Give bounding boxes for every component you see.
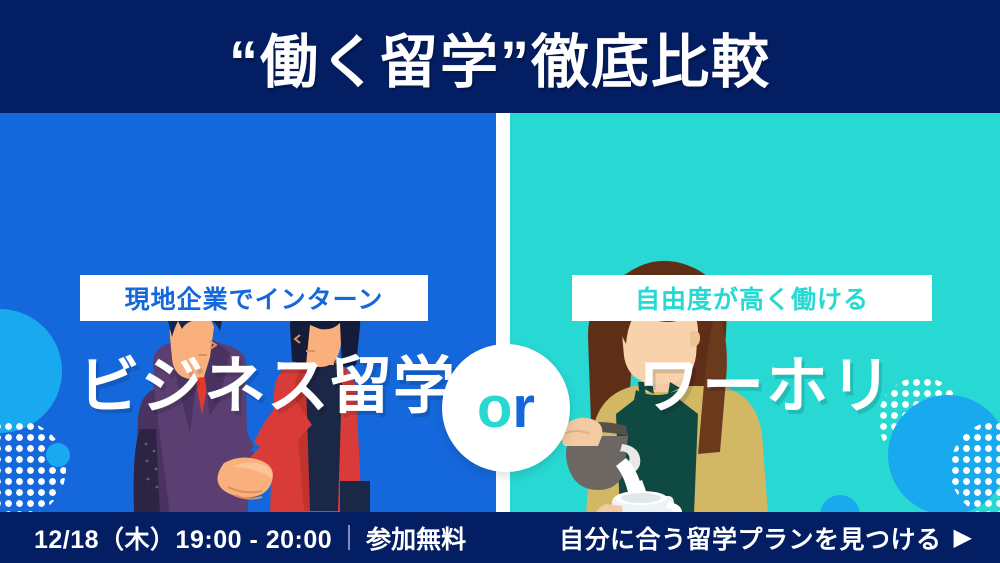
event-datetime: 12/18（木）19:00 - 20:00 — [34, 520, 332, 556]
or-letter-r: r — [512, 375, 535, 440]
cta-label: 自分に合う留学プランを見つける — [559, 520, 942, 556]
decorative-circle-large — [888, 395, 1000, 512]
decorative-circle-small — [46, 443, 70, 467]
headline-left: ビジネス留学 — [78, 335, 456, 425]
panel-business-study[interactable]: 現地企業でインターン ビジネス留学 — [0, 113, 496, 512]
footer-info-group: 12/18（木）19:00 - 20:00 参加無料 — [34, 520, 466, 556]
or-letter-o: o — [477, 375, 512, 440]
or-divider: or — [442, 344, 570, 472]
badge-left: 現地企業でインターン — [80, 275, 428, 321]
decorative-circle-small — [820, 495, 860, 512]
footer-separator — [348, 525, 350, 550]
decorative-dot-pattern — [950, 421, 1000, 512]
headline-right: ワーホリ — [638, 335, 894, 425]
or-circle: or — [442, 344, 570, 472]
event-price: 参加無料 — [366, 520, 466, 556]
webinar-banner: “働く留学”徹底比較 — [0, 0, 1000, 563]
decorative-dot-pattern — [0, 421, 66, 512]
badge-right: 自由度が高く働ける — [572, 275, 932, 321]
cta-button[interactable]: 自分に合う留学プランを見つける ▶ — [559, 520, 972, 556]
panel-working-holiday[interactable]: 自由度が高く働ける ワーホリ — [510, 113, 1000, 512]
badge-left-label: 現地企業でインターン — [125, 280, 384, 316]
badge-right-label: 自由度が高く働ける — [635, 280, 869, 316]
banner-footer: 12/18（木）19:00 - 20:00 参加無料 自分に合う留学プランを見つ… — [0, 512, 1000, 563]
decorative-circle-large — [0, 309, 62, 433]
play-arrow-icon: ▶ — [954, 526, 972, 550]
page-title: “働く留学”徹底比較 — [229, 15, 771, 99]
or-label: or — [477, 379, 535, 437]
banner-header: “働く留学”徹底比較 — [0, 0, 1000, 113]
